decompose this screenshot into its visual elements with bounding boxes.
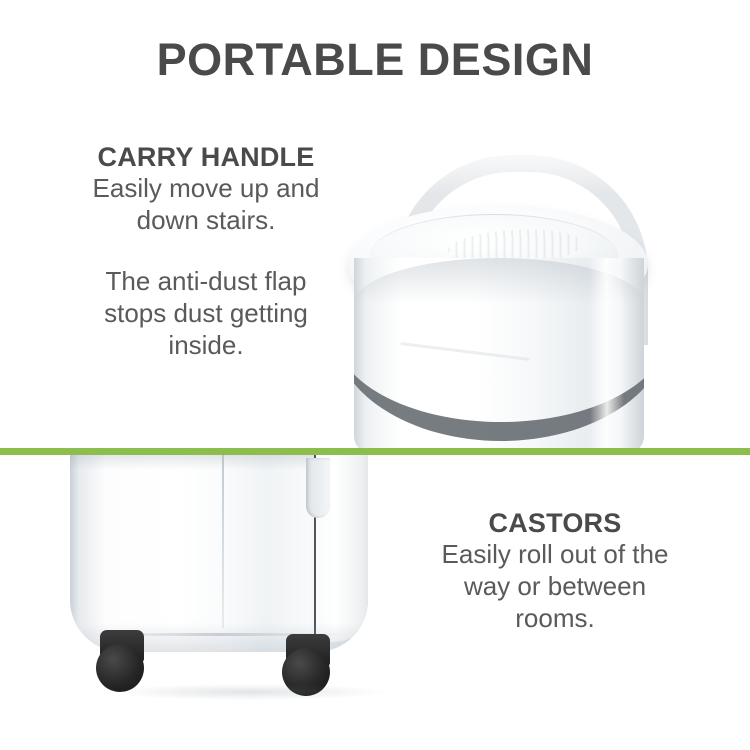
band-highlight: [400, 342, 529, 361]
callout-carry-handle-body: Easily move up and down stairs.: [78, 173, 334, 237]
callout-castors-heading: CASTORS: [432, 508, 678, 539]
callout-anti-dust-body: The anti-dust flap stops dust getting in…: [78, 266, 334, 362]
floor-shadow: [114, 684, 384, 700]
callout-castors-body: Easily roll out of the way or between ro…: [432, 539, 678, 635]
callout-carry-handle: CARRY HANDLE Easily move up and down sta…: [78, 142, 334, 362]
body-gloss-highlight: [590, 258, 624, 454]
infographic-canvas: PORTABLE DESIGN electriQ: [0, 0, 750, 750]
callout-castors: CASTORS Easily roll out of the way or be…: [432, 508, 678, 635]
tank-recessed-grip: [306, 458, 330, 518]
castor-wheel-left: [94, 630, 150, 692]
callout-carry-handle-heading: CARRY HANDLE: [78, 142, 334, 173]
product-lower-unit: [58, 452, 378, 692]
water-tank: [70, 452, 368, 652]
product-body: electriQ: [354, 258, 644, 454]
castor-tire-left: [96, 644, 144, 692]
tank-seam-line: [222, 452, 224, 628]
page-title: PORTABLE DESIGN: [0, 36, 750, 83]
green-divider: [0, 448, 750, 455]
product-upper-unit: electriQ: [330, 150, 650, 452]
